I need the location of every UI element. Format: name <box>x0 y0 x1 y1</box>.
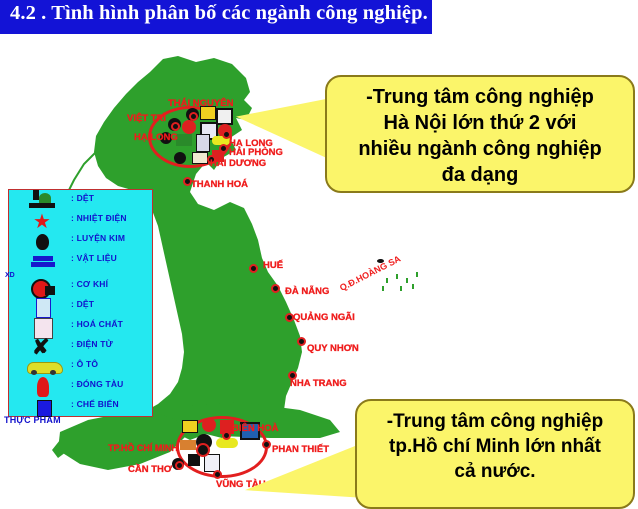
legend-item-label: : LUYỆN KIM <box>71 233 125 243</box>
callout-hcmc: -Trung tâm công nghiệptp.Hồ chí Minh lớn… <box>355 399 635 509</box>
can-icon <box>192 152 208 164</box>
city-dot <box>196 443 210 457</box>
loom-icon <box>23 298 65 318</box>
island-dot <box>412 284 414 289</box>
city-label: HUẾ <box>263 260 283 271</box>
island-dot <box>396 274 398 279</box>
legend-item-label: : ĐÓNG TÀU <box>71 379 124 389</box>
ingot-icon <box>23 232 65 252</box>
brick-icon <box>180 440 196 450</box>
legend-item: : VẬT LIỆU <box>9 252 154 272</box>
city-label: NHA TRANG <box>290 378 347 389</box>
island-dot <box>382 286 384 291</box>
callout-line: nhiều ngành công nghiệp <box>335 136 625 162</box>
legend-item-label: : CHẾ BIẾN <box>71 399 119 409</box>
legend-xd-marker: XD <box>5 272 15 279</box>
legend-footer-label: THỰC PHẨM <box>4 415 61 425</box>
vietnam-map: Q.Đ.HOÀNG SA THÁI NGUYÊN <box>0 34 638 479</box>
island-dot <box>416 272 418 277</box>
legend-item: : ĐÓNG TÀU <box>9 378 154 398</box>
callout-hanoi-text: -Trung tâm công nghiệpHà Nội lớn thứ 2 v… <box>327 84 633 188</box>
callout-line: Hà Nội lớn thứ 2 với <box>335 110 625 136</box>
legend-item-label: : Ô TÔ <box>71 359 98 369</box>
legend-panel: : DỆT★: NHIỆT ĐIỆN: LUYỆN KIM: VẬT LIỆU:… <box>8 189 153 417</box>
city-label: QUẢNG NGÃI <box>293 312 355 323</box>
legend-item-label: : DỆT <box>71 193 94 203</box>
island-dot <box>386 278 388 283</box>
city-dot <box>222 431 231 440</box>
city-label: HẠ LONG <box>134 132 178 143</box>
city-label: ĐÀ NẴNG <box>285 286 329 297</box>
callout-line: đa dạng <box>335 162 625 188</box>
island-marker-icon <box>377 259 384 263</box>
city-label: HẢI DƯƠNG <box>210 158 266 169</box>
legend-item-label: : ĐIỆN TỬ <box>71 339 113 349</box>
city-label: HẢI PHÒNG <box>229 147 283 158</box>
callout-line: cả nước. <box>365 459 625 484</box>
city-dot <box>175 461 184 470</box>
city-label: BIÊN HOÀ <box>232 423 278 434</box>
factory-icon <box>23 192 65 212</box>
circuit-icon <box>216 108 233 125</box>
factory-icon <box>176 134 192 146</box>
legend-item-label: : DỆT <box>71 299 94 309</box>
car-icon <box>23 358 65 378</box>
city-label: THÁI NGUYÊN <box>168 98 233 109</box>
gear-icon <box>202 418 216 432</box>
legend-item: : DỆT <box>9 192 154 212</box>
ship-icon <box>23 378 65 398</box>
legend-item: ✘: ĐIỆN TỬ <box>9 338 154 358</box>
can-icon <box>182 420 198 433</box>
city-dot <box>249 264 258 273</box>
title-banner: 4.2 . Tình hình phân bố các ngành công n… <box>0 0 432 34</box>
city-label: PHAN THIẾT <box>272 444 329 455</box>
gear-icon <box>23 278 65 298</box>
city-dot <box>297 337 306 346</box>
legend-item-label: : VẬT LIỆU <box>71 253 117 263</box>
island-dot <box>406 278 408 283</box>
circuit-icon: ✘ <box>23 338 65 358</box>
island-dot <box>400 286 402 291</box>
page-title: 4.2 . Tình hình phân bố các ngành công n… <box>10 2 430 25</box>
callout-line: -Trung tâm công nghiệp <box>365 409 625 434</box>
city-label: QUY NHƠN <box>307 343 359 354</box>
city-label: CẦN THƠ <box>128 464 172 475</box>
city-label: TP.HỒ CHÍ MINH <box>108 443 178 453</box>
city-dot <box>171 122 180 131</box>
legend-item-label: : NHIỆT ĐIỆN <box>71 213 127 223</box>
city-label: VIỆT TRÌ <box>127 113 166 124</box>
city-dot <box>262 440 271 449</box>
callout-line: -Trung tâm công nghiệp <box>335 84 625 110</box>
city-dot <box>213 470 222 479</box>
legend-item-label: : CƠ KHÍ <box>71 279 108 289</box>
loom-icon <box>196 134 210 152</box>
flask-icon <box>23 318 65 338</box>
legend-item: : DỆT <box>9 298 154 318</box>
legend-item: : Ô TÔ <box>9 358 154 378</box>
legend-item: : CƠ KHÍ <box>9 278 154 298</box>
brick-icon <box>23 252 65 272</box>
legend-item: ★: NHIỆT ĐIỆN <box>9 212 154 232</box>
city-dot <box>271 284 280 293</box>
callout-hcmc-text: -Trung tâm công nghiệptp.Hồ chí Minh lớn… <box>357 409 633 484</box>
gear-icon <box>182 120 196 134</box>
callout-hanoi: -Trung tâm công nghiệpHà Nội lớn thứ 2 v… <box>325 75 635 193</box>
legend-item: : LUYỆN KIM <box>9 232 154 252</box>
legend-item-label: : HOÁ CHẤT <box>71 319 123 329</box>
city-dot <box>189 112 198 121</box>
ingot-icon <box>174 152 186 164</box>
star-icon: ★ <box>23 212 65 232</box>
city-dot <box>219 144 228 153</box>
callout-line: tp.Hồ chí Minh lớn nhất <box>365 434 625 459</box>
city-label: THANH HOÁ <box>191 179 248 190</box>
legend-item: : HOÁ CHẤT <box>9 318 154 338</box>
